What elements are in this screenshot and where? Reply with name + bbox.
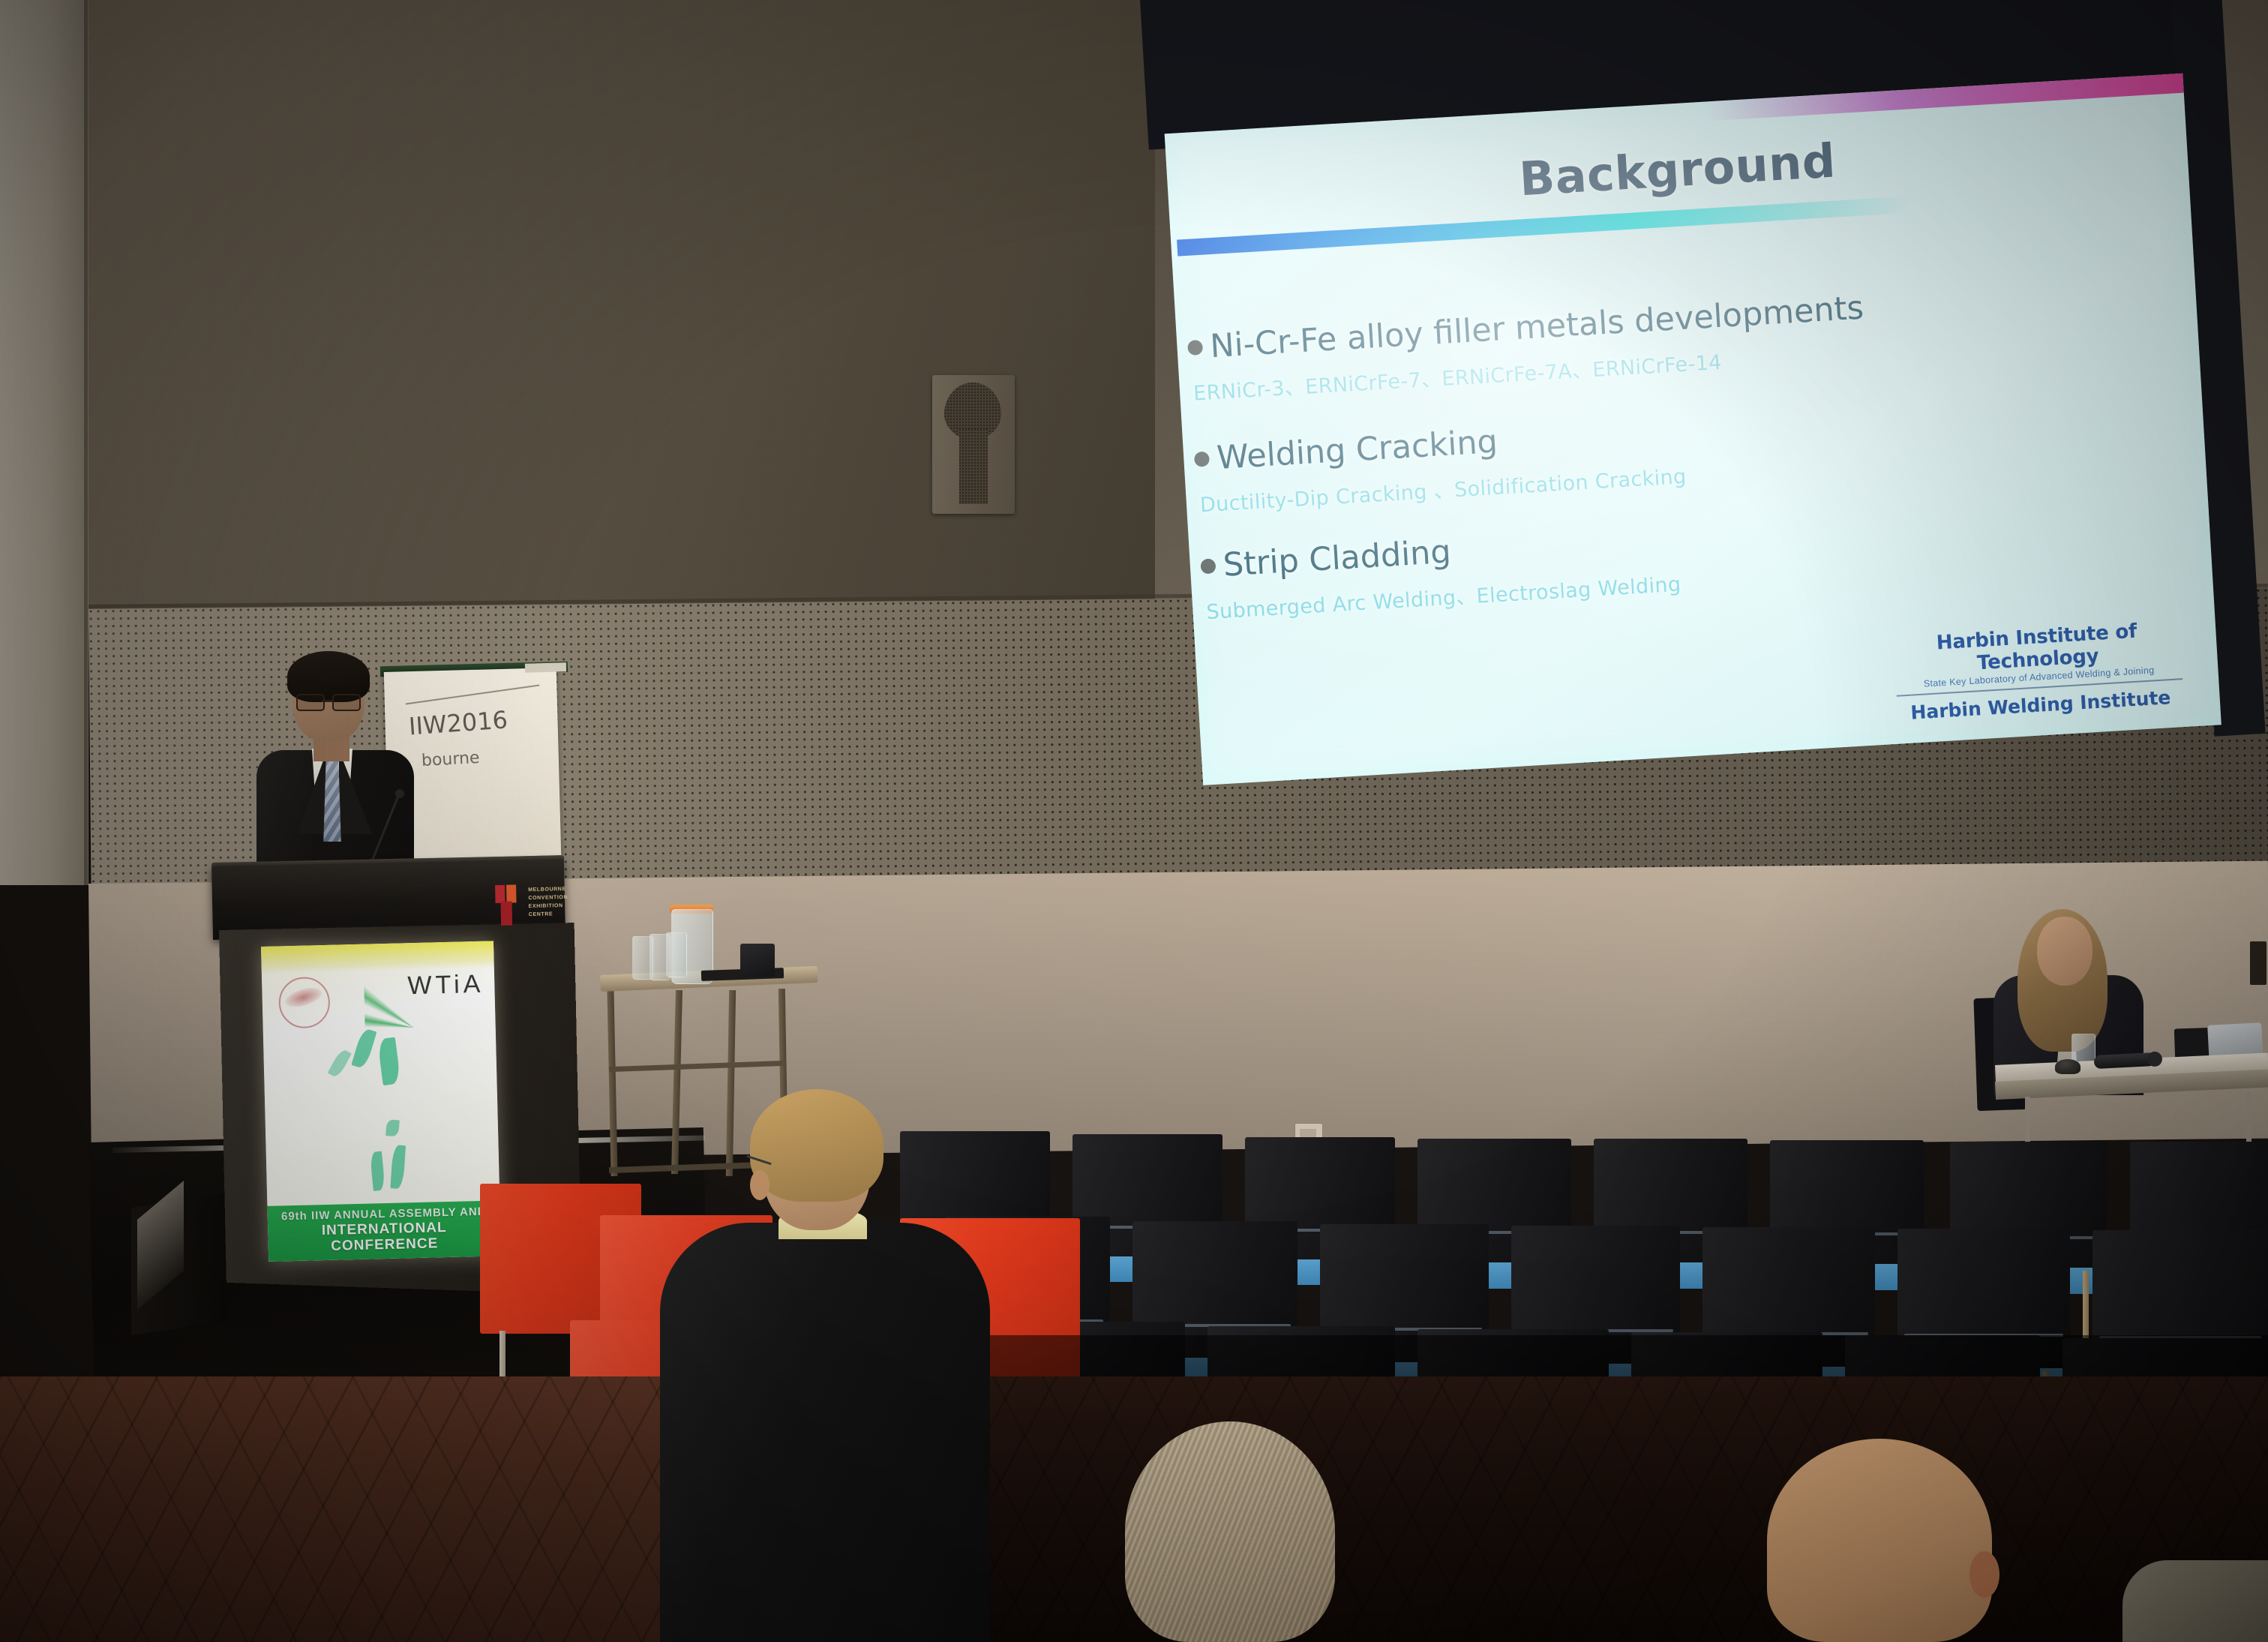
logo-institute-name: Harbin Welding Institute	[1879, 685, 2202, 725]
table-bell	[2055, 1059, 2080, 1074]
lectern-microphone-icon	[395, 789, 404, 798]
moderator-head	[2037, 917, 2092, 986]
audience-member-shoulder	[2122, 1560, 2268, 1642]
audience-member-ear	[750, 1170, 769, 1200]
audience-member-body	[660, 1223, 990, 1642]
presentation-slide: Background Ni-Cr-Fe alloy filler metals …	[1165, 74, 2221, 785]
slide-bullet-group: Ni-Cr-Fe alloy filler metals development…	[1186, 270, 2184, 406]
wall-plate	[2250, 941, 2266, 985]
presenter-glasses-icon	[295, 694, 364, 709]
lectern-event-banner: WTiA 69th IIW ANNUAL ASSEMBLY AND INTERN…	[261, 941, 501, 1261]
wall-pillar	[0, 0, 88, 885]
bullet-dot-icon	[1194, 452, 1210, 467]
slide-footer-logo: Harbin Institute of Technology State Key…	[1875, 617, 2202, 725]
wall-upper-left	[0, 0, 1170, 609]
flipchart-text-line2: bourne	[421, 749, 480, 770]
venue-logo: MELBOURNE CONVENTION EXHIBITION CENTRE	[495, 882, 563, 930]
slide-bullet-label: Welding Cracking	[1216, 423, 1498, 477]
flipchart-clip	[525, 662, 566, 672]
venue-logo-line3: EXHIBITION	[529, 902, 568, 911]
wall-pillar-edge	[84, 0, 88, 885]
banner-event-line2: INTERNATIONAL CONFERENCE	[268, 1218, 501, 1256]
venue-logo-line4: CENTRE	[529, 910, 568, 919]
bullet-dot-icon	[1187, 340, 1203, 356]
slide-bullet-label: Strip Cladding	[1222, 533, 1452, 584]
projection-screen: Background Ni-Cr-Fe alloy filler metals …	[1140, 0, 2266, 816]
audience-member-hair	[750, 1089, 883, 1202]
conference-room-photo: Background Ni-Cr-Fe alloy filler metals …	[0, 0, 2268, 1642]
audience-member-ear	[1969, 1551, 1999, 1598]
carpet-shadow	[862, 1335, 2268, 1642]
wtia-logo: WTiA	[407, 970, 484, 1001]
banner-event-bar: 69th IIW ANNUAL ASSEMBLY AND INTERNATION…	[267, 1200, 501, 1262]
slide-body: Ni-Cr-Fe alloy filler metals development…	[1186, 270, 2199, 659]
slide-bullet-group: Strip Cladding Submerged Arc Welding、Ele…	[1199, 489, 2197, 625]
speaker-grille-icon	[959, 429, 988, 504]
audience-member-head	[1767, 1439, 1992, 1642]
audience-member-hair	[1125, 1421, 1335, 1642]
venue-logo-mark-icon	[495, 884, 524, 926]
bullet-dot-icon	[1200, 558, 1216, 574]
drinking-glass	[666, 932, 687, 977]
banner-yellow-top-accent	[261, 941, 494, 974]
venue-logo-text: MELBOURNE CONVENTION EXHIBITION CENTRE	[528, 885, 568, 919]
wall-speaker	[932, 375, 1015, 514]
presentation-clicker	[740, 944, 775, 977]
